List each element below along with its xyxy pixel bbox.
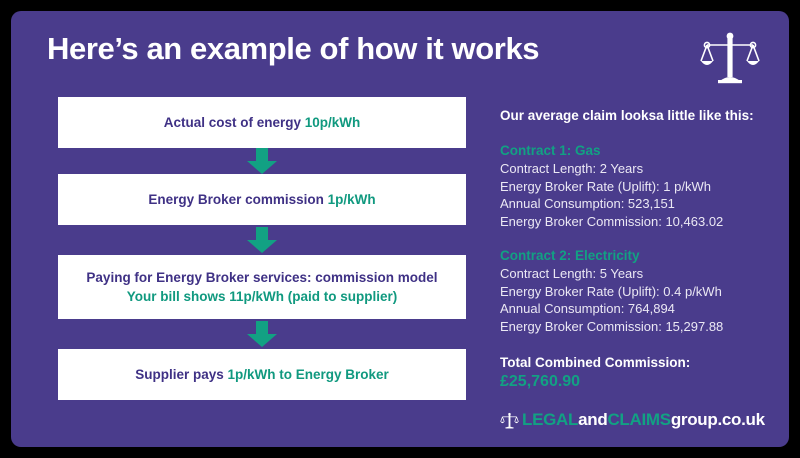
- claim-panel-heading: Our average claim looksa little like thi…: [500, 107, 780, 125]
- flow-step-1-text: Actual cost of energy: [164, 115, 305, 130]
- flow-step-2-accent: 1p/kWh: [328, 192, 376, 207]
- contract-2-rate: Energy Broker Rate (Uplift): 0.4 p/kWh: [500, 283, 780, 301]
- scales-of-justice-icon: [500, 411, 519, 430]
- flow-step-3: Paying for Energy Broker services: commi…: [58, 255, 466, 319]
- flow-step-4: Supplier pays 1p/kWh to Energy Broker: [58, 349, 466, 400]
- flow-step-2: Energy Broker commission 1p/kWh: [58, 174, 466, 225]
- flow-step-1-line: Actual cost of energy 10p/kWh: [164, 113, 361, 132]
- logo-part-legal: LEGAL: [522, 410, 578, 429]
- arrow-down-icon-1: [58, 148, 466, 174]
- contract-2-title: Contract 2: Electricity: [500, 247, 780, 265]
- brand-logo-text: LEGALandCLAIMSgroup.co.uk: [522, 410, 765, 430]
- infographic-card: Here’s an example of how it works: [11, 11, 789, 447]
- brand-logo[interactable]: LEGALandCLAIMSgroup.co.uk: [500, 408, 765, 432]
- contract-2-commission: Energy Broker Commission: 15,297.88: [500, 318, 780, 336]
- flow-step-2-line: Energy Broker commission 1p/kWh: [148, 190, 375, 209]
- header: Here’s an example of how it works: [11, 11, 789, 89]
- total-commission-value: £25,760.90: [500, 372, 780, 392]
- claim-details-panel: Our average claim looksa little like thi…: [500, 107, 780, 392]
- logo-part-claims: CLAIMS: [607, 410, 670, 429]
- contract-2-length: Contract Length: 5 Years: [500, 265, 780, 283]
- contract-block-2: Contract 2: Electricity Contract Length:…: [500, 247, 780, 335]
- flow-step-3-line-1: Paying for Energy Broker services: commi…: [86, 268, 437, 287]
- flow-step-3-line-2: Your bill shows 11p/kWh (paid to supplie…: [127, 287, 398, 306]
- contract-2-consumption: Annual Consumption: 764,894: [500, 300, 780, 318]
- scales-of-justice-icon: [699, 29, 761, 85]
- contract-1-commission: Energy Broker Commission: 10,463.02: [500, 213, 780, 231]
- flow-step-4-accent: 1p/kWh to Energy Broker: [227, 367, 388, 382]
- total-commission-label: Total Combined Commission:: [500, 353, 780, 372]
- contract-block-1: Contract 1: Gas Contract Length: 2 Years…: [500, 142, 780, 230]
- contract-1-consumption: Annual Consumption: 523,151: [500, 195, 780, 213]
- arrow-down-icon-2: [58, 225, 466, 255]
- flow-step-4-text: Supplier pays: [135, 367, 227, 382]
- logo-part-domain: group.co.uk: [671, 410, 765, 429]
- total-commission-block: Total Combined Commission: £25,760.90: [500, 353, 780, 392]
- contract-1-rate: Energy Broker Rate (Uplift): 1 p/kWh: [500, 178, 780, 196]
- flow-step-1: Actual cost of energy 10p/kWh: [58, 97, 466, 148]
- flow-step-2-text: Energy Broker commission: [148, 192, 327, 207]
- flow-diagram: Actual cost of energy 10p/kWh Energy Bro…: [58, 97, 466, 400]
- contract-1-title: Contract 1: Gas: [500, 142, 780, 160]
- arrow-down-icon-3: [58, 319, 466, 349]
- flow-step-4-line: Supplier pays 1p/kWh to Energy Broker: [135, 365, 389, 384]
- contract-1-length: Contract Length: 2 Years: [500, 160, 780, 178]
- flow-step-1-accent: 10p/kWh: [305, 115, 361, 130]
- logo-part-and: and: [578, 410, 607, 429]
- page-title: Here’s an example of how it works: [47, 31, 539, 67]
